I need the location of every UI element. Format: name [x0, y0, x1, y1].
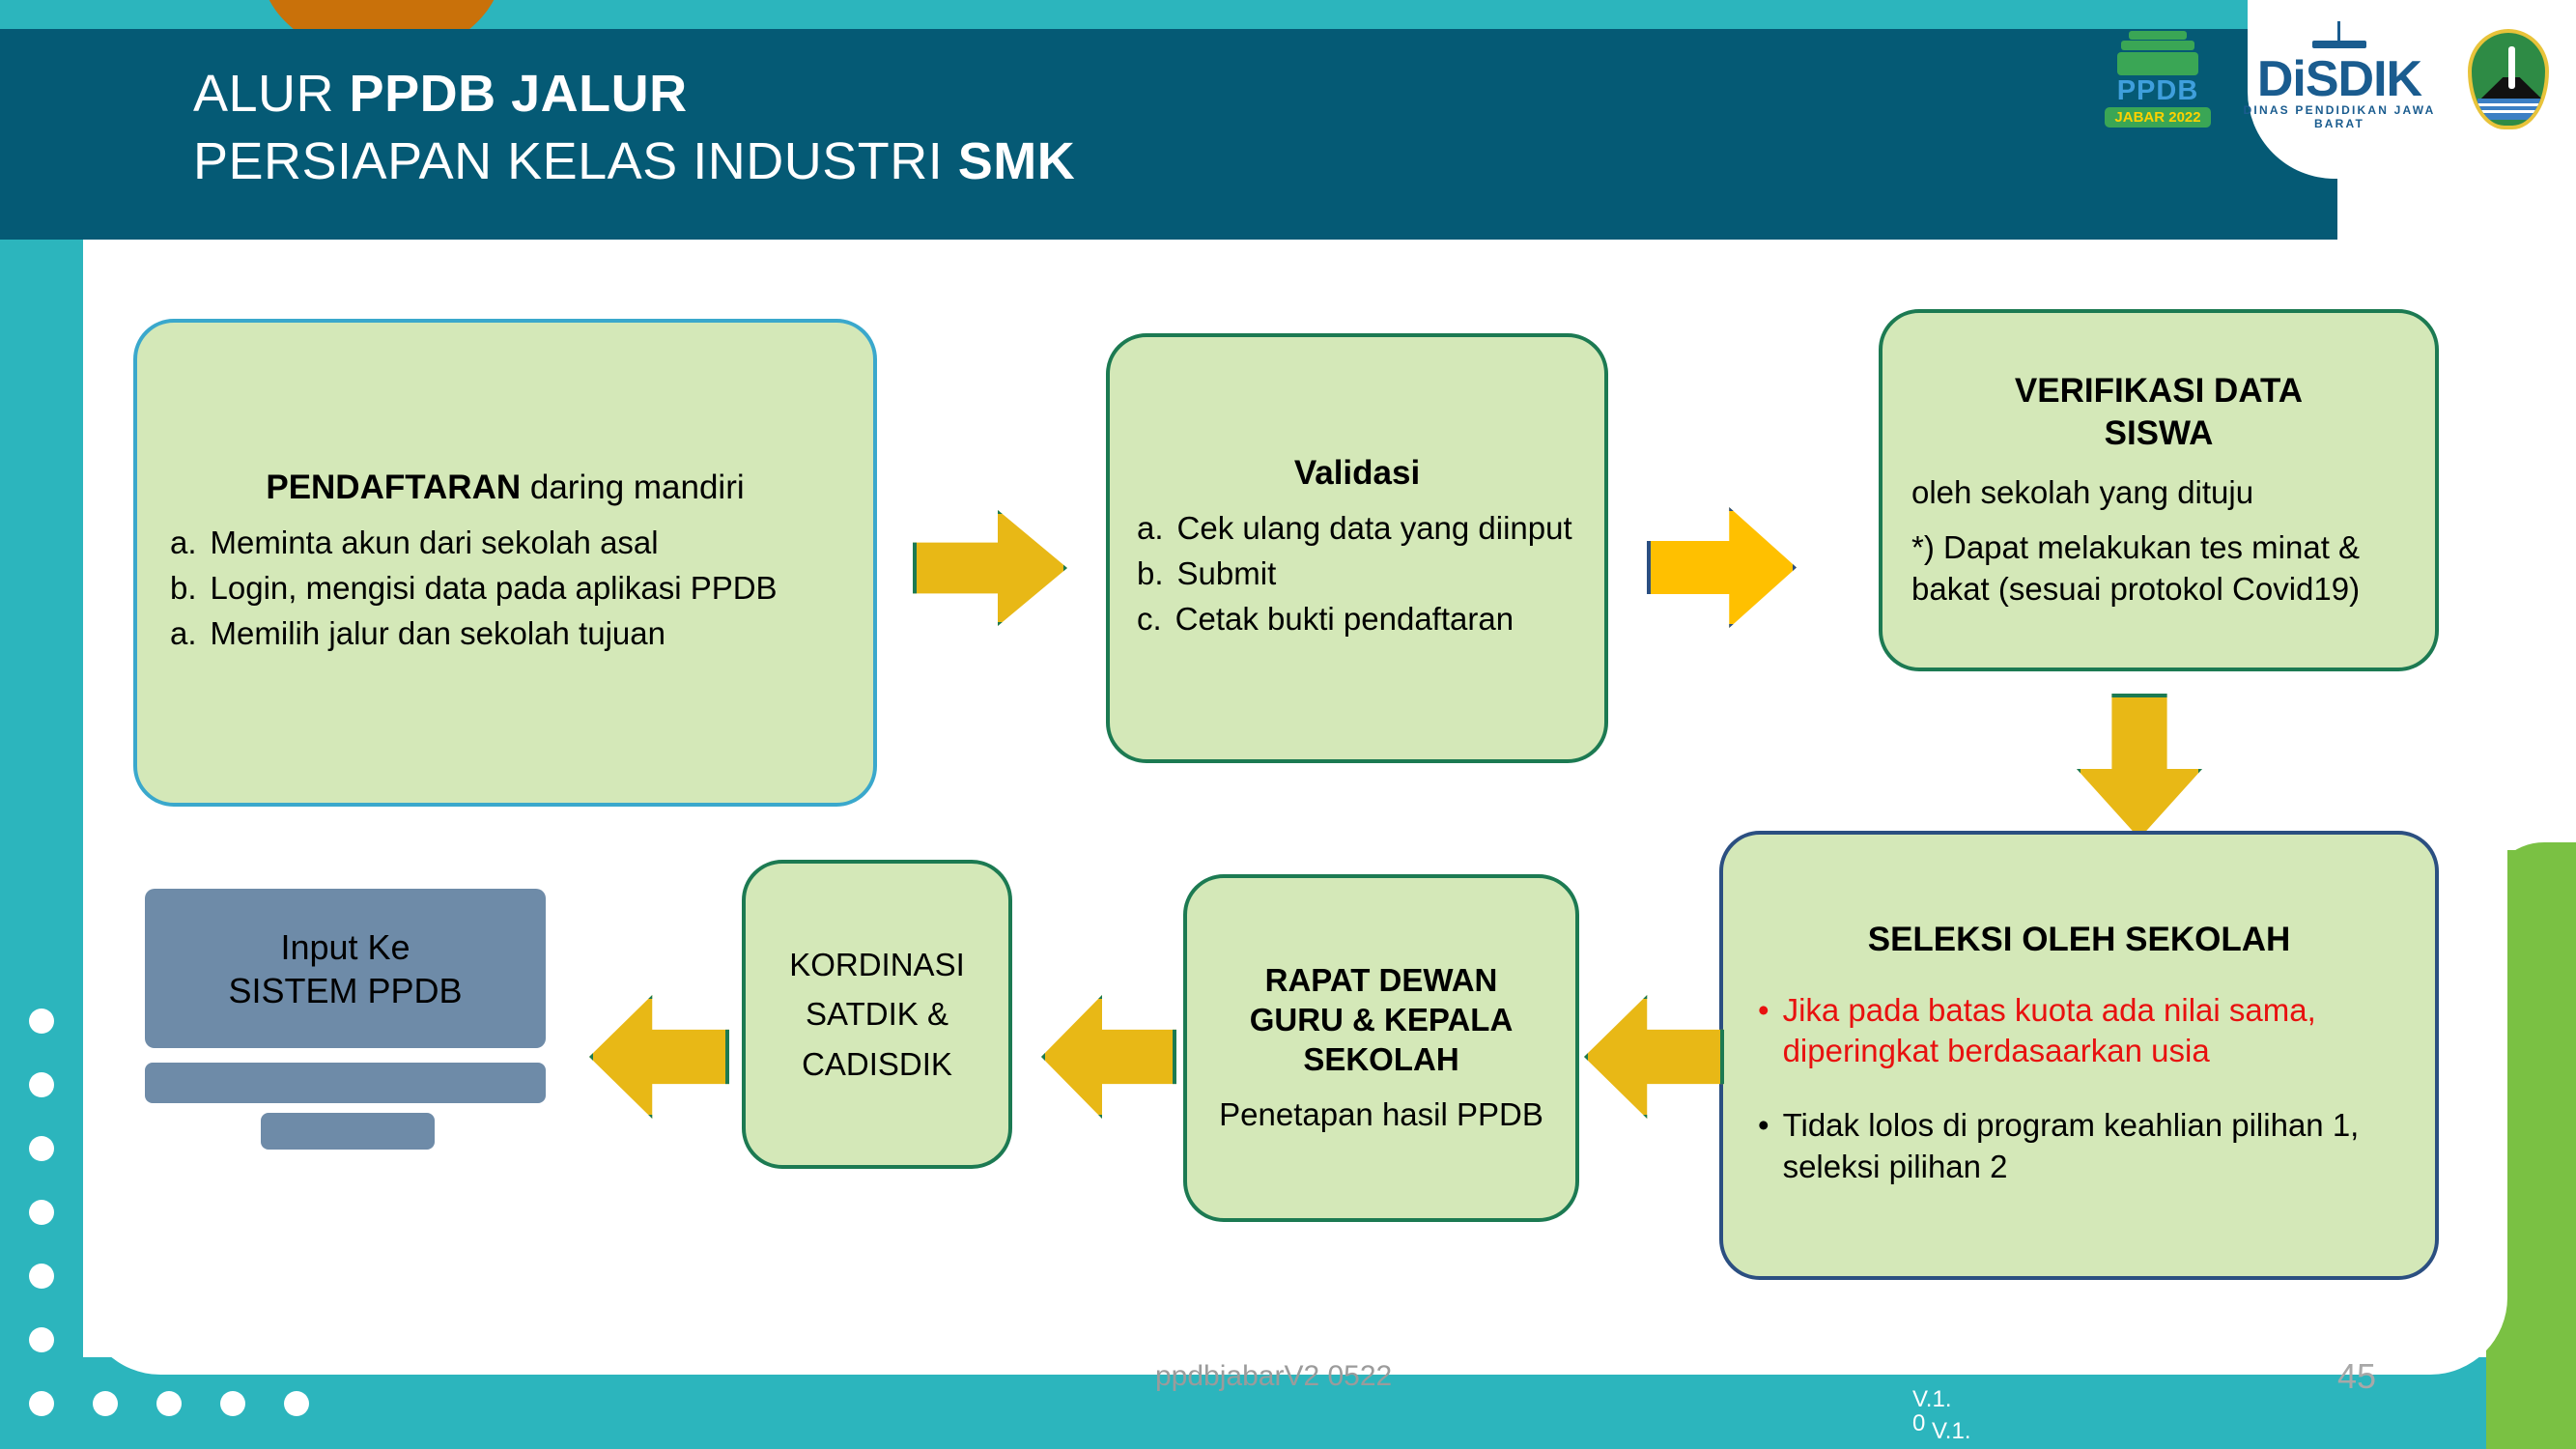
list-item: • Tidak lolos di program keahlian piliha… — [1758, 1105, 2400, 1188]
monitor-line1: Input Ke — [228, 925, 462, 969]
box2-title: Validasi — [1137, 452, 1577, 495]
decorative-dot — [93, 1391, 118, 1416]
title-line2-plain: PERSIAPAN KELAS INDUSTRI — [193, 132, 958, 190]
decorative-dot — [29, 1072, 54, 1097]
box4-title: SELEKSI OLEH SEKOLAH — [1758, 919, 2400, 961]
box2-list: a. Cek ulang data yang diinput b. Submit… — [1137, 508, 1577, 644]
gedung-sate-blue-icon — [2310, 27, 2368, 56]
disdik-logo-subtitle: DINAS PENDIDIKAN JAWA BARAT — [2228, 103, 2450, 130]
box5-title: RAPAT DEWAN GURU & KEPALA SEKOLAH — [1210, 960, 1552, 1080]
box4-bullet-2: Tidak lolos di program keahlian pilihan … — [1783, 1105, 2400, 1188]
list-item: a. Cek ulang data yang diinput — [1137, 508, 1577, 550]
decorative-dot — [156, 1391, 182, 1416]
decorative-dot — [29, 1136, 54, 1161]
list-marker: b. — [170, 568, 197, 610]
disdik-logo-icon: DiSDIK DINAS PENDIDIKAN JAWA BARAT — [2228, 27, 2450, 130]
list-item: b. Submit — [1137, 554, 1577, 595]
page-number: 45 — [2337, 1356, 2376, 1397]
decorative-dot — [29, 1327, 54, 1352]
logo-group: PPDB JABAR 2022 DiSDIK DINAS PENDIDIKAN … — [2105, 27, 2549, 130]
gedung-sate-green-icon — [2113, 31, 2202, 75]
footer-version-2: V.1. — [1932, 1418, 1971, 1445]
ppdb-logo-word: PPDB — [2105, 77, 2211, 105]
list-item: c. Cetak bukti pendaftaran — [1137, 599, 1577, 640]
decorative-dot — [29, 1391, 54, 1416]
monitor-base — [145, 1063, 546, 1103]
list-item: • Jika pada batas kuota ada nilai sama, … — [1758, 990, 2400, 1073]
monitor-line2: SISTEM PPDB — [228, 969, 462, 1012]
box6-line1: KORDINASI — [763, 940, 991, 989]
list-marker: a. — [170, 613, 197, 655]
box5-title-line2: GURU & KEPALA — [1210, 1000, 1552, 1039]
flow-box-validasi: Validasi a. Cek ulang data yang diinput … — [1106, 333, 1608, 763]
flow-box-verifikasi: VERIFIKASI DATA SISWA oleh sekolah yang … — [1879, 309, 2439, 671]
box1-title: PENDAFTARAN daring mandiri — [170, 467, 840, 509]
ppdb-logo-year: JABAR 2022 — [2105, 107, 2211, 128]
monitor-stand — [261, 1113, 435, 1150]
box3-paragraph-1: oleh sekolah yang dituju — [1911, 472, 2406, 514]
slide-canvas: ALUR PPDB JALUR PERSIAPAN KELAS INDUSTRI… — [0, 0, 2576, 1449]
list-text: Cetak bukti pendaftaran — [1175, 599, 1577, 640]
disdik-logo-word: DiSDIK — [2228, 56, 2450, 103]
list-item: a. Memilih jalur dan sekolah tujuan — [170, 613, 840, 655]
list-marker: a. — [170, 523, 197, 564]
list-text: Meminta akun dari sekolah asal — [211, 523, 840, 564]
decorative-dot — [29, 1009, 54, 1034]
box3-title: VERIFIKASI DATA SISWA — [1911, 370, 2406, 455]
box1-title-rest: daring mandiri — [521, 469, 745, 506]
box6-line3: CADISDIK — [763, 1039, 991, 1089]
list-item: a. Meminta akun dari sekolah asal — [170, 523, 840, 564]
list-item: b. Login, mengisi data pada aplikasi PPD… — [170, 568, 840, 610]
box5-title-line3: SEKOLAH — [1210, 1039, 1552, 1079]
decorative-dot — [29, 1264, 54, 1289]
box1-list: a. Meminta akun dari sekolah asal b. Log… — [170, 523, 840, 659]
title-line1-bold: PPDB JALUR — [350, 65, 688, 123]
box3-title-line2: SISWA — [1911, 412, 2406, 455]
page-title: ALUR PPDB JALUR PERSIAPAN KELAS INDUSTRI… — [193, 60, 2028, 195]
ppdb-logo-icon: PPDB JABAR 2022 — [2105, 31, 2211, 128]
decorative-dot — [220, 1391, 245, 1416]
bullet-icon: • — [1758, 1105, 1769, 1188]
box6-text: KORDINASI SATDIK & CADISDIK — [763, 940, 991, 1088]
title-line1-plain: ALUR — [193, 65, 350, 123]
flow-box-seleksi: SELEKSI OLEH SEKOLAH • Jika pada batas k… — [1719, 831, 2439, 1280]
footer-version-1-label: V.1. — [1912, 1386, 1952, 1412]
box4-bullet-1: Jika pada batas kuota ada nilai sama, di… — [1783, 990, 2400, 1073]
monitor-graphic: Input Ke SISTEM PPDB — [145, 889, 546, 1169]
box6-line2: SATDIK & — [763, 989, 991, 1038]
bullet-icon: • — [1758, 990, 1769, 1073]
box3-paragraph-2: *) Dapat melakukan tes minat & bakat (se… — [1911, 527, 2406, 611]
box5-paragraph: Penetapan hasil PPDB — [1210, 1094, 1552, 1136]
title-line2-bold: SMK — [958, 132, 1076, 190]
list-text: Memilih jalur dan sekolah tujuan — [211, 613, 840, 655]
list-marker: a. — [1137, 508, 1164, 550]
list-marker: c. — [1137, 599, 1162, 640]
list-text: Submit — [1177, 554, 1577, 595]
box1-title-bold: PENDAFTARAN — [266, 469, 521, 506]
flow-box-rapat-dewan: RAPAT DEWAN GURU & KEPALA SEKOLAH Peneta… — [1183, 874, 1579, 1222]
list-text: Cek ulang data yang diinput — [1177, 508, 1577, 550]
flow-box-pendaftaran: PENDAFTARAN daring mandiri a. Meminta ak… — [133, 319, 877, 807]
flow-box-kordinasi: KORDINASI SATDIK & CADISDIK — [742, 860, 1012, 1169]
monitor-screen: Input Ke SISTEM PPDB — [145, 889, 546, 1048]
box3-title-line1: VERIFIKASI DATA — [1911, 370, 2406, 412]
decorative-dot — [29, 1200, 54, 1225]
box5-title-line1: RAPAT DEWAN — [1210, 960, 1552, 1000]
west-java-emblem-icon — [2468, 29, 2549, 129]
decorative-dot — [284, 1391, 309, 1416]
footer-version-code: ppdbjabarV2 0522 — [1155, 1360, 1392, 1393]
list-text: Login, mengisi data pada aplikasi PPDB — [211, 568, 840, 610]
box2-title-text: Validasi — [1294, 454, 1420, 492]
list-marker: b. — [1137, 554, 1164, 595]
footer-version-1-suffix: 0 — [1912, 1410, 1925, 1436]
